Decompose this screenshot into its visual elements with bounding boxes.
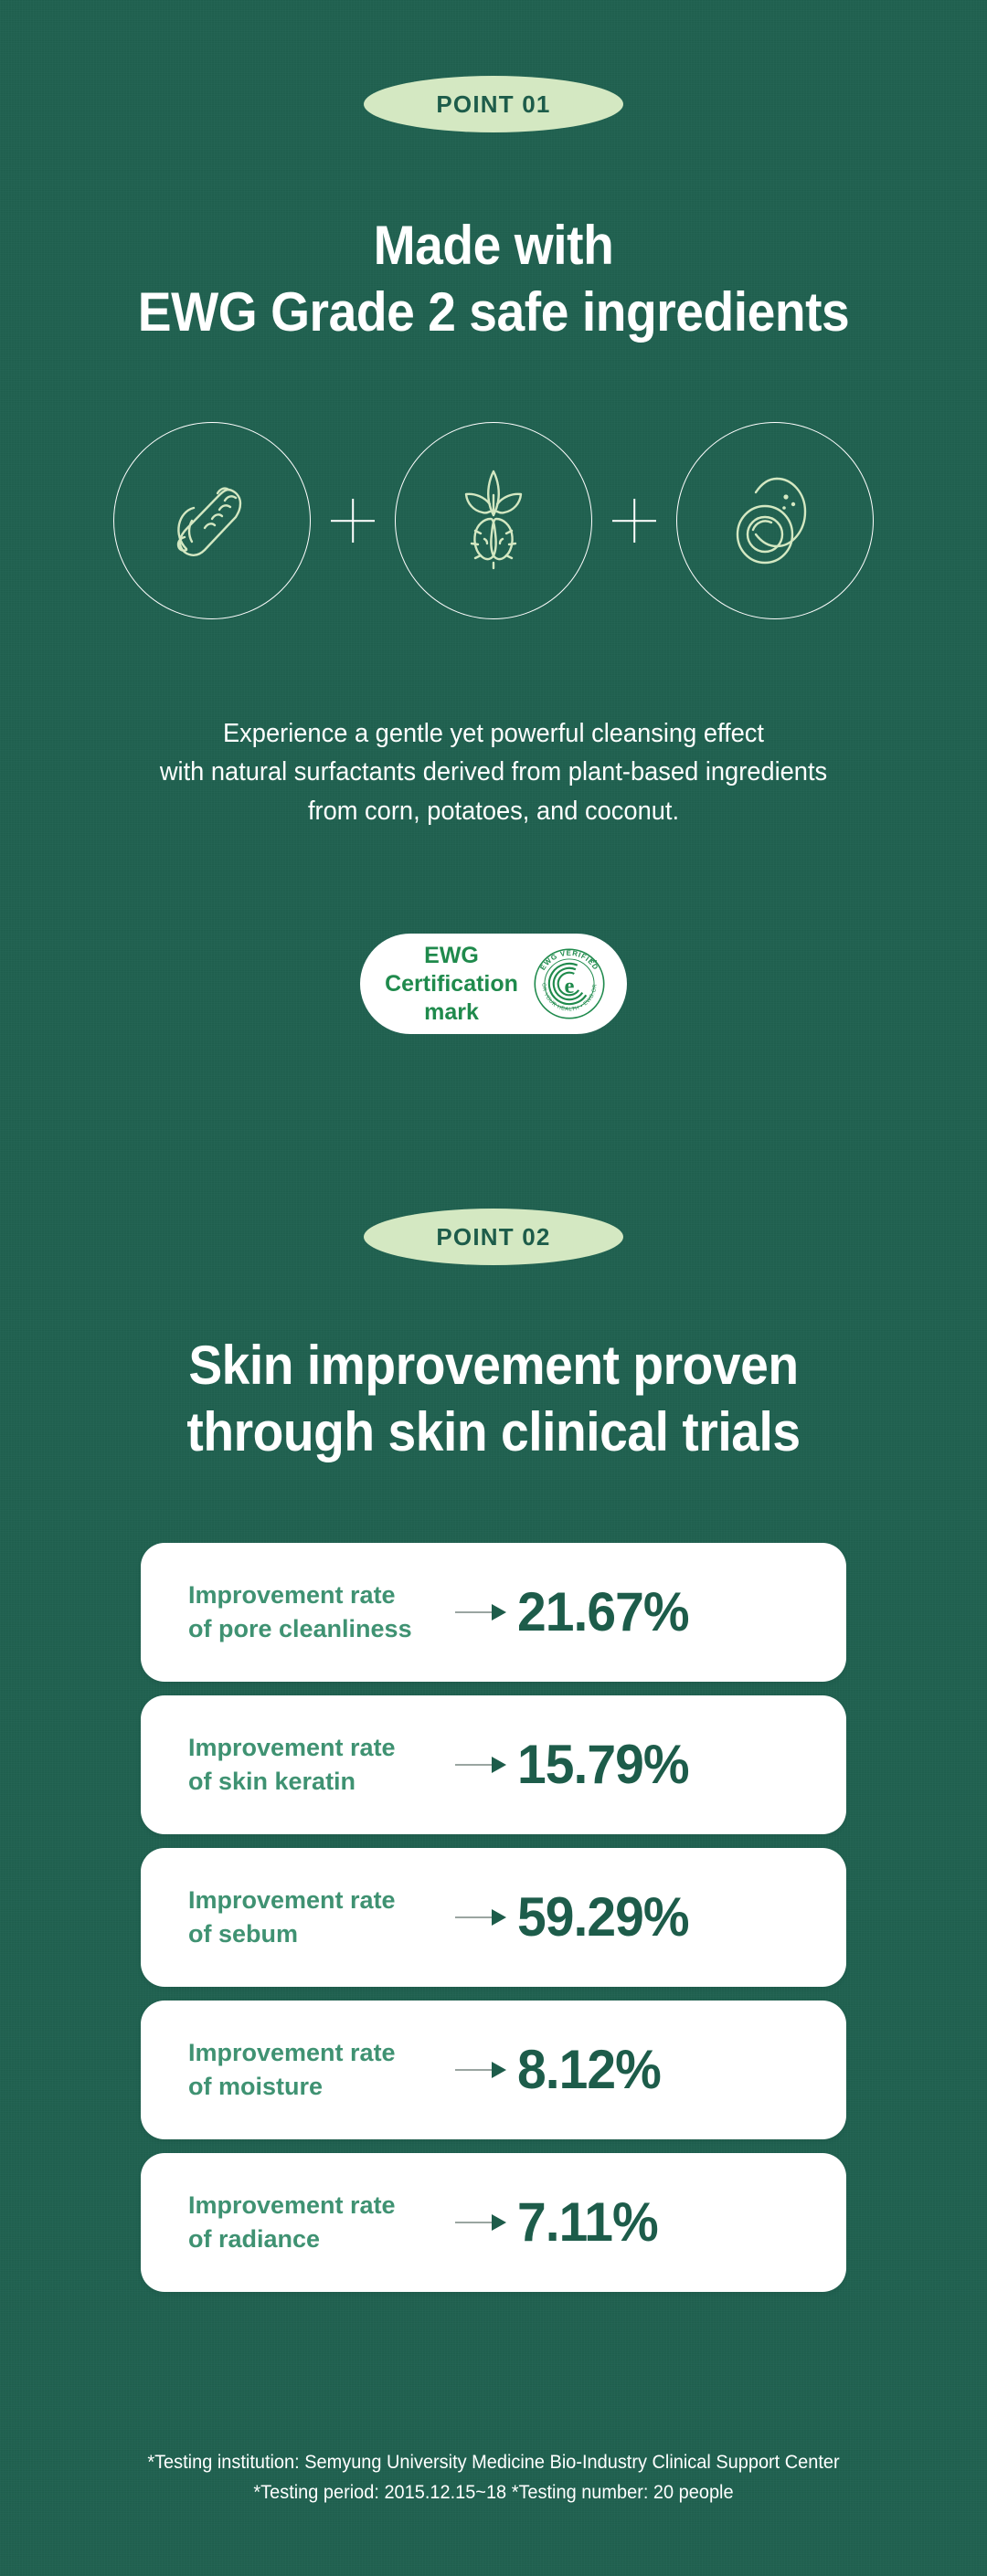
ingredient-circle-coconut (676, 422, 874, 619)
plus-icon-1 (327, 495, 378, 546)
ewg-certification-pill: EWG Certification mark EWG VERIFIED FOR … (360, 934, 627, 1034)
card-label: Improvement rate of sebum (188, 1884, 455, 1952)
card-label: Improvement rate of moisture (188, 2036, 455, 2105)
card-label: Improvement rate of skin keratin (188, 1731, 455, 1800)
card-value: 15.79% (517, 1737, 689, 1792)
clinical-trial-footnote: *Testing institution: Semyung University… (25, 2448, 962, 2507)
infographic-page: POINT 01 Made with EWG Grade 2 safe ingr… (0, 0, 987, 2576)
card-label-line-2: of skin keratin (188, 1765, 455, 1799)
ewg-certification-label: EWG Certification mark (380, 942, 523, 1027)
svg-text:e: e (565, 974, 575, 998)
card-label-line-1: Improvement rate (188, 2189, 455, 2222)
arrow-right-icon (455, 1908, 512, 1927)
svg-text:TM: TM (590, 959, 597, 965)
body-copy-line-1: Experience a gentle yet powerful cleansi… (29, 714, 957, 753)
corn-icon (157, 466, 267, 575)
body-copy-line-2: with natural surfactants derived from pl… (29, 753, 957, 791)
point-01-heading: Made with EWG Grade 2 safe ingredients (39, 212, 948, 345)
coconut-icon (720, 466, 830, 575)
point-02-badge: POINT 02 (364, 1209, 623, 1265)
card-label-line-1: Improvement rate (188, 1884, 455, 1917)
ewg-label-line-2: Certification mark (380, 970, 523, 1027)
point-01-body-copy: Experience a gentle yet powerful cleansi… (29, 714, 957, 830)
ingredient-circle-corn (113, 422, 311, 619)
arrow-right-icon (455, 2213, 512, 2232)
footnote-line-1: *Testing institution: Semyung University… (25, 2448, 962, 2478)
ingredient-icon-row (0, 422, 987, 619)
card-label-line-2: of sebum (188, 1917, 455, 1951)
point-01-heading-line-1: Made with (39, 212, 948, 279)
card-label-line-2: of pore cleanliness (188, 1612, 455, 1646)
card-value: 7.11% (517, 2195, 658, 2250)
plus-icon-2 (609, 495, 660, 546)
improvement-card: Improvement rate of sebum 59.29% (141, 1848, 846, 1987)
point-02-heading-line-2: through skin clinical trials (39, 1399, 948, 1465)
card-label-line-1: Improvement rate (188, 2036, 455, 2070)
ewg-verified-seal-icon: EWG VERIFIED FOR YOUR HEALTH • EWG.ORG T… (532, 946, 607, 1021)
improvement-card: Improvement rate of pore cleanliness 21.… (141, 1543, 846, 1682)
point-01-badge-wrap: POINT 01 (0, 76, 987, 132)
point-01-badge: POINT 01 (364, 76, 623, 132)
improvement-cards-list: Improvement rate of pore cleanliness 21.… (0, 1543, 987, 2292)
improvement-card: Improvement rate of skin keratin 15.79% (141, 1695, 846, 1834)
ingredient-circle-potato (395, 422, 592, 619)
improvement-card: Improvement rate of radiance 7.11% (141, 2153, 846, 2292)
ewg-label-line-1: EWG (380, 942, 523, 970)
card-label-line-1: Improvement rate (188, 1578, 455, 1612)
card-value: 21.67% (517, 1585, 689, 1640)
arrow-right-icon (455, 2061, 512, 2079)
arrow-right-icon (455, 1756, 512, 1774)
card-label: Improvement rate of pore cleanliness (188, 1578, 455, 1647)
improvement-card: Improvement rate of moisture 8.12% (141, 2001, 846, 2139)
card-label-line-1: Improvement rate (188, 1731, 455, 1765)
card-label-line-2: of radiance (188, 2222, 455, 2256)
card-label: Improvement rate of radiance (188, 2189, 455, 2257)
card-value: 8.12% (517, 2043, 661, 2097)
ewg-certification-wrap: EWG Certification mark EWG VERIFIED FOR … (0, 934, 987, 1034)
point-02-badge-wrap: POINT 02 (0, 1209, 987, 1265)
point-01-heading-line-2: EWG Grade 2 safe ingredients (39, 279, 948, 345)
card-value: 59.29% (517, 1890, 689, 1945)
arrow-right-icon (455, 1603, 512, 1621)
point-02-heading: Skin improvement proven through skin cli… (39, 1332, 948, 1465)
card-label-line-2: of moisture (188, 2070, 455, 2104)
footnote-line-2: *Testing period: 2015.12.15~18 *Testing … (25, 2478, 962, 2508)
point-02-heading-line-1: Skin improvement proven (39, 1332, 948, 1399)
body-copy-line-3: from corn, potatoes, and coconut. (29, 792, 957, 830)
potato-sprout-icon (439, 464, 548, 577)
